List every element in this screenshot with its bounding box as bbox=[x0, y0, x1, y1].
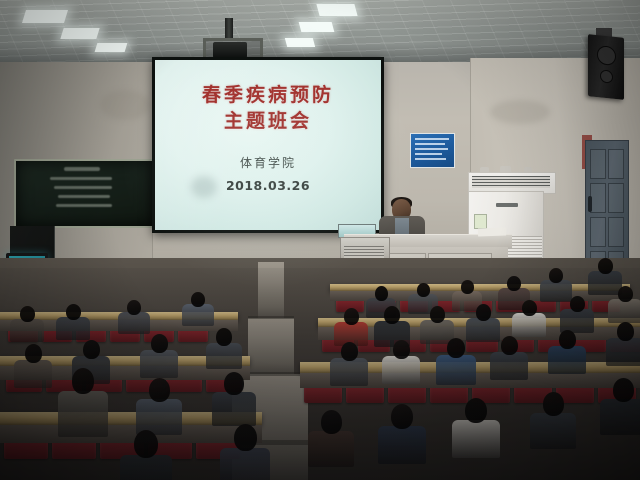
student-head bbox=[384, 306, 400, 324]
student-head bbox=[417, 283, 430, 297]
student-head bbox=[447, 338, 465, 358]
student-head bbox=[72, 368, 94, 394]
student-figure bbox=[530, 392, 576, 452]
student-torso bbox=[512, 313, 546, 337]
student-head bbox=[559, 330, 576, 349]
student-figure bbox=[382, 340, 420, 387]
student-figure bbox=[378, 404, 426, 467]
student-torso bbox=[58, 391, 108, 437]
student-torso bbox=[436, 355, 476, 385]
ceiling-projector-icon bbox=[213, 42, 247, 58]
ceiling-light-panel bbox=[299, 22, 335, 32]
student-figure bbox=[600, 378, 640, 438]
air-conditioner-vent bbox=[472, 176, 550, 188]
blackboard bbox=[14, 159, 154, 228]
student-figure bbox=[212, 372, 256, 429]
student-torso bbox=[308, 431, 354, 467]
student-head bbox=[618, 286, 633, 302]
student-figure bbox=[490, 336, 528, 383]
ceiling-light-panel bbox=[95, 43, 128, 52]
wall-notice-sign bbox=[410, 133, 455, 168]
student-head bbox=[465, 398, 487, 423]
student-head bbox=[149, 378, 170, 402]
student-head bbox=[216, 328, 232, 346]
slide-title-line-1: 春季疾病预防 bbox=[155, 82, 381, 108]
student-head bbox=[321, 410, 342, 434]
student-head bbox=[393, 340, 410, 359]
student-figure bbox=[606, 322, 640, 369]
student-torso bbox=[140, 350, 178, 378]
wall-stain bbox=[100, 90, 150, 120]
student-head bbox=[543, 392, 564, 416]
student-head bbox=[344, 308, 359, 325]
student-torso bbox=[212, 392, 256, 426]
ceiling-light-panel bbox=[316, 4, 357, 16]
student-head bbox=[191, 292, 205, 307]
student-torso bbox=[120, 455, 172, 480]
student-torso bbox=[378, 426, 426, 464]
student-head bbox=[549, 268, 563, 283]
student-figure bbox=[58, 368, 108, 440]
projection-screen: 春季疾病预防 主题班会 体育学院 2018.03.26 bbox=[155, 60, 381, 230]
student-head bbox=[391, 404, 413, 429]
student-head bbox=[234, 424, 257, 451]
center-aisle bbox=[248, 318, 294, 378]
student-figure bbox=[140, 334, 178, 381]
student-head bbox=[151, 334, 168, 353]
student-head bbox=[224, 372, 244, 395]
wall-speaker-icon bbox=[588, 34, 624, 100]
student-torso bbox=[182, 304, 214, 326]
student-head bbox=[341, 342, 358, 361]
student-torso bbox=[14, 360, 52, 388]
student-torso bbox=[530, 413, 576, 449]
student-head bbox=[430, 306, 445, 323]
slide-date: 2018.03.26 bbox=[155, 178, 381, 193]
student-head bbox=[134, 430, 158, 458]
student-figure bbox=[220, 424, 270, 480]
center-aisle bbox=[258, 262, 284, 322]
student-head bbox=[501, 336, 518, 355]
student-head bbox=[617, 322, 634, 341]
student-figure bbox=[436, 338, 476, 388]
wall-stain bbox=[490, 100, 550, 124]
speaker-cone bbox=[597, 45, 616, 66]
student-head bbox=[476, 304, 491, 321]
student-figure bbox=[182, 292, 214, 329]
student-torso bbox=[330, 358, 368, 386]
slide-subtitle: 体育学院 bbox=[155, 154, 381, 171]
projector-mount-pole bbox=[225, 18, 233, 40]
air-conditioner-logo bbox=[496, 203, 518, 207]
student-torso bbox=[600, 399, 640, 435]
student-head bbox=[20, 306, 35, 322]
lecture-hall-photo: 春季疾病预防 主题班会 体育学院 2018.03.26 bbox=[0, 0, 640, 480]
student-figure bbox=[452, 398, 500, 461]
student-torso bbox=[548, 346, 586, 374]
student-head bbox=[375, 286, 388, 301]
student-figure bbox=[512, 300, 546, 340]
student-torso bbox=[490, 352, 528, 380]
student-figure bbox=[120, 430, 172, 480]
student-torso bbox=[382, 356, 420, 384]
student-torso bbox=[118, 312, 150, 334]
student-figure bbox=[136, 378, 182, 438]
student-torso bbox=[608, 299, 640, 323]
ceiling-light-panel bbox=[22, 10, 68, 23]
student-torso bbox=[606, 338, 640, 366]
student-figure bbox=[56, 304, 90, 343]
student-head bbox=[83, 340, 100, 359]
student-head bbox=[598, 258, 613, 274]
student-head bbox=[66, 304, 81, 320]
student-head bbox=[127, 300, 141, 315]
air-conditioner-label bbox=[474, 214, 487, 229]
student-figure bbox=[118, 300, 150, 337]
ceiling-light-panel bbox=[285, 38, 315, 47]
student-torso bbox=[10, 319, 44, 342]
ceiling-light-panel bbox=[60, 28, 99, 39]
student-torso bbox=[56, 317, 90, 340]
projection-screen-frame: 春季疾病预防 主题班会 体育学院 2018.03.26 bbox=[152, 57, 384, 233]
student-head bbox=[570, 296, 585, 312]
speaker-cone bbox=[600, 69, 613, 83]
student-torso bbox=[220, 448, 270, 480]
student-torso bbox=[206, 343, 242, 369]
student-figure bbox=[608, 286, 640, 326]
student-figure bbox=[330, 342, 368, 389]
student-head bbox=[461, 280, 474, 294]
student-head bbox=[507, 276, 521, 291]
door-handle[interactable] bbox=[588, 196, 592, 212]
student-head bbox=[25, 344, 42, 363]
student-figure bbox=[10, 306, 44, 345]
slide-title: 春季疾病预防 主题班会 bbox=[155, 82, 381, 134]
student-head bbox=[613, 378, 634, 402]
student-figure bbox=[14, 344, 52, 391]
aisle-step bbox=[248, 316, 294, 319]
student-figure bbox=[206, 328, 242, 372]
student-figure bbox=[548, 330, 586, 377]
student-figure bbox=[308, 410, 354, 470]
student-head bbox=[522, 300, 537, 316]
podium-papers bbox=[478, 228, 506, 237]
slide-title-line-2: 主题班会 bbox=[155, 108, 381, 134]
student-torso bbox=[452, 420, 500, 458]
